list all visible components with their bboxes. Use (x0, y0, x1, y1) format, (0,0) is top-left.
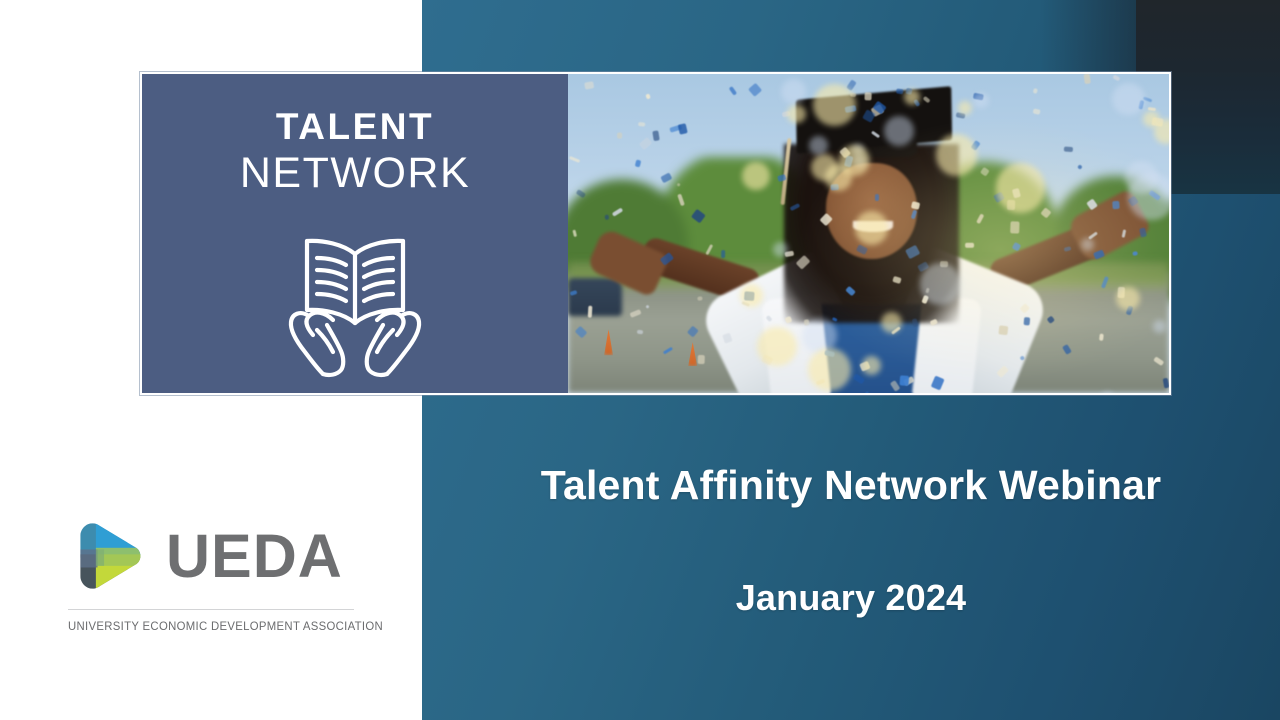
talent-network-line2: NETWORK (142, 152, 568, 195)
talent-network-line1: TALENT (142, 108, 568, 145)
ueda-tagline: UNIVERSITY ECONOMIC DEVELOPMENT ASSOCIAT… (68, 619, 340, 633)
talent-network-logo-panel: TALENT NETWORK (142, 74, 568, 393)
graduate-celebration-photo (568, 74, 1169, 393)
talent-network-wordmark: TALENT NETWORK (142, 108, 568, 195)
media-strip: TALENT NETWORK (140, 72, 1171, 395)
slide-date: January 2024 (422, 577, 1280, 619)
ueda-wordmark: UEDA (166, 526, 343, 587)
ueda-logo: UEDA UNIVERSITY ECONOMIC DEVELOPMENT ASS… (68, 515, 360, 633)
title-block: Talent Affinity Network Webinar January … (422, 462, 1280, 619)
ueda-play-triangle-mark (68, 515, 150, 597)
photo-sun-glow (568, 74, 1169, 393)
ueda-divider (68, 609, 354, 610)
hands-holding-open-book-icon (271, 224, 439, 384)
slide-title: Talent Affinity Network Webinar (422, 462, 1280, 509)
ueda-logo-row: UEDA (68, 515, 360, 597)
title-slide: TALENT NETWORK (0, 0, 1280, 720)
